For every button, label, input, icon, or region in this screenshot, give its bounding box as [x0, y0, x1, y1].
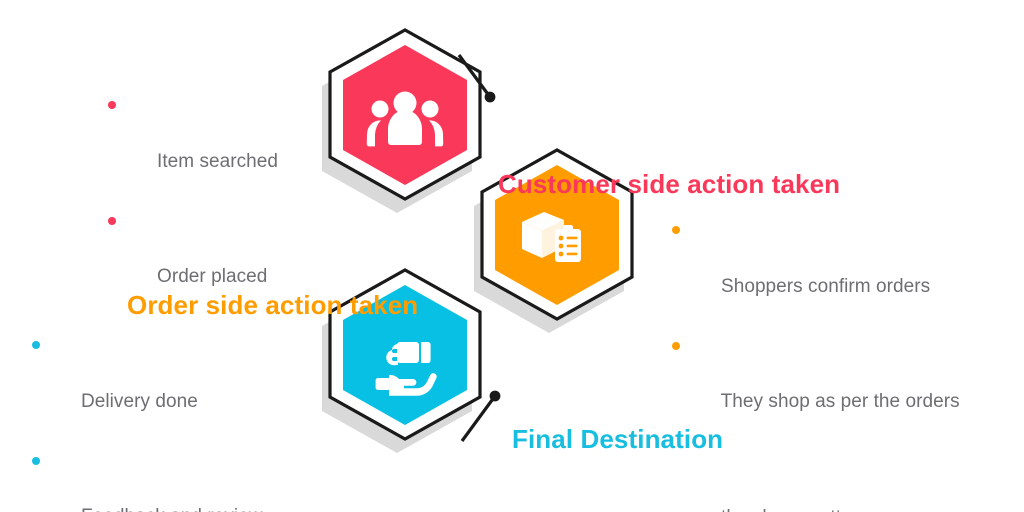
infographic-canvas: Item searched Order placed Customer side… [0, 0, 1024, 512]
bullet-dot-icon [108, 101, 116, 109]
bullet-dot-icon [672, 226, 680, 234]
heading-final: Final Destination - Customer's Doorstep [512, 361, 793, 512]
heading-line: Customer side action taken [498, 169, 840, 201]
list-item: Shoppers confirm orders [672, 215, 960, 331]
hexagon-customer[interactable] [322, 30, 495, 213]
list-item-label: Item searched [157, 151, 278, 172]
bullet-dot-icon [32, 457, 40, 465]
list-item-label: Shoppers confirm orders [721, 276, 930, 297]
connector-dot-final [490, 391, 501, 402]
list-item: Item searched [108, 90, 278, 206]
list-item-label: Feedback and review [81, 506, 263, 512]
list-item: Delivery done [32, 330, 263, 446]
heading-line: Order side action taken [127, 290, 418, 322]
bullet-dot-icon [32, 341, 40, 349]
connector-dot-customer [485, 92, 496, 103]
bullet-dot-icon [108, 217, 116, 225]
bullet-list-final: Delivery done Feedback and review [32, 330, 263, 512]
bullet-dot-icon [672, 342, 680, 350]
list-item-label: Delivery done [81, 391, 198, 412]
heading-line: Final Destination [512, 424, 793, 456]
list-item: Feedback and review [32, 446, 263, 512]
